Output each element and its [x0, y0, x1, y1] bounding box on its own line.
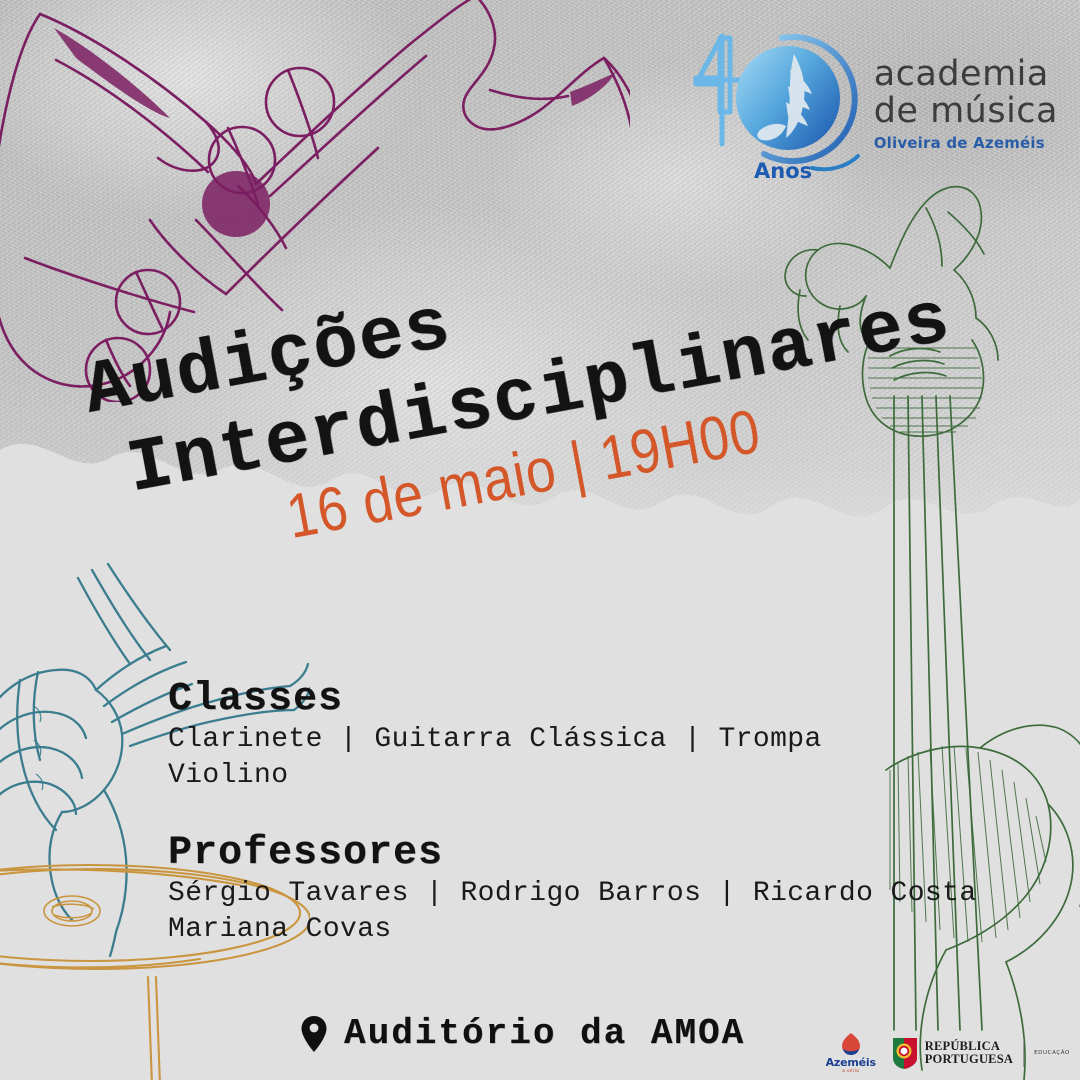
azemeis-wordmark: Azeméis [826, 1057, 876, 1068]
footer-divider [1023, 1039, 1024, 1067]
academy-logo: Anos academia de música Oliveira de Azem… [690, 26, 1058, 191]
classes-line-2: Violino [168, 758, 822, 794]
portugal-shield-icon [891, 1036, 919, 1070]
azemeis-municipality-logo: Azeméis a sério [824, 1032, 878, 1074]
location-pin-icon [300, 1015, 328, 1053]
professors-section: Professores Sérgio Tavares | Rodrigo Bar… [168, 832, 977, 948]
venue-row: Auditório da AMOA [300, 1013, 745, 1054]
venue-name: Auditório da AMOA [344, 1013, 745, 1054]
republica-ministry-tag: EDUCAÇÃO [1034, 1050, 1070, 1056]
academy-location: Oliveira de Azeméis [874, 136, 1058, 151]
academy-name-block: academia de música Oliveira de Azeméis [874, 57, 1058, 161]
republica-wordmark: REPÚBLICA PORTUGUESA [925, 1040, 1013, 1067]
anniversary-40-mark: Anos [690, 26, 870, 191]
anniversary-anos-label: Anos [754, 159, 812, 183]
classes-section: Classes Clarinete | Guitarra Clássica | … [168, 678, 822, 794]
footer-logos: Azeméis a sério REPÚBLICA PORTUGUESA EDU… [824, 1032, 1070, 1074]
republica-line-2: PORTUGUESA [925, 1053, 1013, 1066]
classes-line-1: Clarinete | Guitarra Clássica | Trompa [168, 722, 822, 758]
azemeis-flame-icon [834, 1032, 868, 1056]
poster-canvas: Anos academia de música Oliveira de Azem… [0, 0, 1080, 1080]
classes-heading: Classes [168, 678, 822, 722]
academy-name-line2: de música [874, 94, 1058, 129]
professors-line-1: Sérgio Tavares | Rodrigo Barros | Ricard… [168, 876, 977, 912]
professors-heading: Professores [168, 832, 977, 876]
azemeis-tagline: a sério [842, 1069, 859, 1074]
republica-line-1: REPÚBLICA [925, 1040, 1013, 1053]
academy-name-line1: academia [874, 54, 1049, 94]
republica-portuguesa-logo: REPÚBLICA PORTUGUESA EDUCAÇÃO [891, 1036, 1070, 1070]
professors-line-2: Mariana Covas [168, 912, 977, 948]
